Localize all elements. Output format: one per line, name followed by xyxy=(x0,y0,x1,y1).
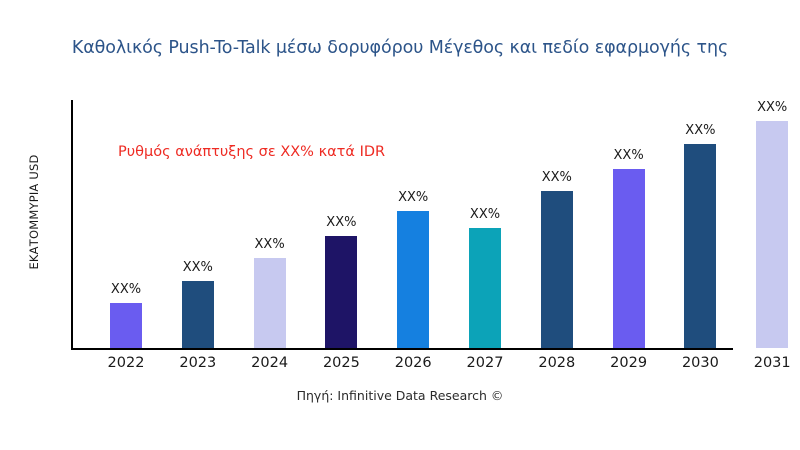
bar-2026[interactable]: XX% xyxy=(397,211,429,348)
bar-2023[interactable]: XX% xyxy=(182,281,214,348)
source-caption: Πηγή: Infinitive Data Research © xyxy=(0,388,800,403)
chart-title: Καθολικός Push-To-Talk μέσω δορυφόρου Μέ… xyxy=(0,38,800,58)
bar-rect-2022 xyxy=(110,303,142,348)
bar-value-label-2023: XX% xyxy=(183,260,213,275)
bar-2030[interactable]: XX% xyxy=(684,144,716,348)
bar-rect-2023 xyxy=(182,281,214,348)
bar-value-label-2022: XX% xyxy=(111,282,141,297)
bar-rect-2028 xyxy=(541,191,573,348)
x-axis-tick-labels: 2022202320242025202620272028202920302031 xyxy=(71,355,800,377)
chart-container: Καθολικός Push-To-Talk μέσω δορυφόρου Μέ… xyxy=(0,0,800,450)
bar-value-label-2031: XX% xyxy=(757,100,787,115)
bar-value-label-2025: XX% xyxy=(326,215,356,230)
x-tick-2024: 2024 xyxy=(235,355,305,371)
bar-value-label-2029: XX% xyxy=(614,148,644,163)
bar-2027[interactable]: XX% xyxy=(469,228,501,348)
x-tick-2027: 2027 xyxy=(450,355,520,371)
x-tick-2023: 2023 xyxy=(163,355,233,371)
x-tick-2029: 2029 xyxy=(594,355,664,371)
bar-value-label-2024: XX% xyxy=(255,237,285,252)
bar-value-label-2027: XX% xyxy=(470,207,500,222)
x-tick-2022: 2022 xyxy=(91,355,161,371)
bar-2029[interactable]: XX% xyxy=(613,169,645,348)
bar-2031[interactable]: XX% xyxy=(756,121,788,348)
bar-2024[interactable]: XX% xyxy=(254,258,286,348)
bar-series: XX%XX%XX%XX%XX%XX%XX%XX%XX%XX% xyxy=(71,100,800,349)
bar-value-label-2026: XX% xyxy=(398,190,428,205)
bar-value-label-2030: XX% xyxy=(685,123,715,138)
bar-2028[interactable]: XX% xyxy=(541,191,573,348)
y-axis-title: ΕΚΑΤΟΜΜΥΡΙΑ USD xyxy=(27,82,41,342)
bar-rect-2027 xyxy=(469,228,501,348)
bar-rect-2031 xyxy=(756,121,788,348)
bar-2022[interactable]: XX% xyxy=(110,303,142,348)
bar-rect-2025 xyxy=(325,236,357,348)
bar-rect-2029 xyxy=(613,169,645,348)
bar-rect-2030 xyxy=(684,144,716,348)
bar-value-label-2028: XX% xyxy=(542,170,572,185)
bar-rect-2024 xyxy=(254,258,286,348)
x-tick-2026: 2026 xyxy=(378,355,448,371)
bar-rect-2026 xyxy=(397,211,429,348)
x-tick-2025: 2025 xyxy=(306,355,376,371)
bar-2025[interactable]: XX% xyxy=(325,236,357,348)
x-tick-2030: 2030 xyxy=(665,355,735,371)
x-tick-2031: 2031 xyxy=(737,355,800,371)
plot-area: Ρυθμός ανάπτυξης σε XX% κατά IDR XX%XX%X… xyxy=(71,100,800,349)
x-tick-2028: 2028 xyxy=(522,355,592,371)
